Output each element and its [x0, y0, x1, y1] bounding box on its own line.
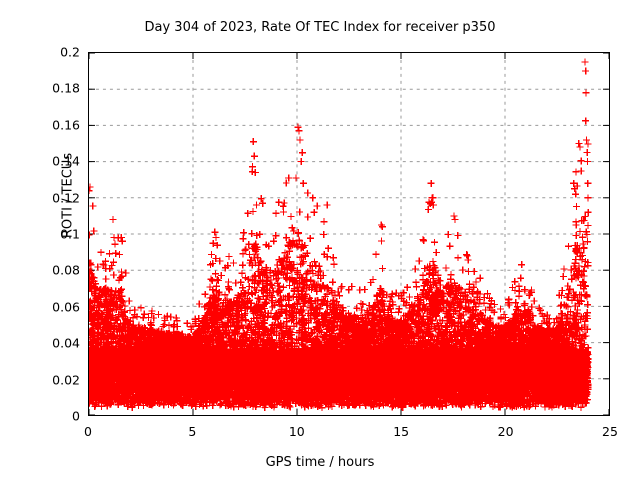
- x-tick-label: 0: [84, 424, 92, 439]
- scatter-series-roti: [89, 53, 609, 415]
- y-tick-label: 0.04: [18, 336, 80, 351]
- y-tick-label: 0.02: [18, 372, 80, 387]
- chart-page: Day 304 of 2023, Rate Of TEC Index for r…: [0, 0, 640, 480]
- y-tick-label: 0.2: [18, 45, 80, 60]
- y-tick-label: 0.06: [18, 299, 80, 314]
- x-tick-label: 20: [498, 424, 514, 439]
- y-tick-label: 0.18: [18, 81, 80, 96]
- x-tick-label: 5: [188, 424, 196, 439]
- plot-area: [88, 52, 610, 416]
- x-tick-label: 10: [289, 424, 305, 439]
- y-axis-label: ROTI / TECUs: [61, 116, 76, 276]
- x-tick-label: 25: [602, 424, 618, 439]
- chart-title: Day 304 of 2023, Rate Of TEC Index for r…: [0, 20, 640, 35]
- x-axis-label: GPS time / hours: [0, 455, 640, 470]
- y-tick-label: 0: [18, 409, 80, 424]
- x-tick-label: 15: [393, 424, 409, 439]
